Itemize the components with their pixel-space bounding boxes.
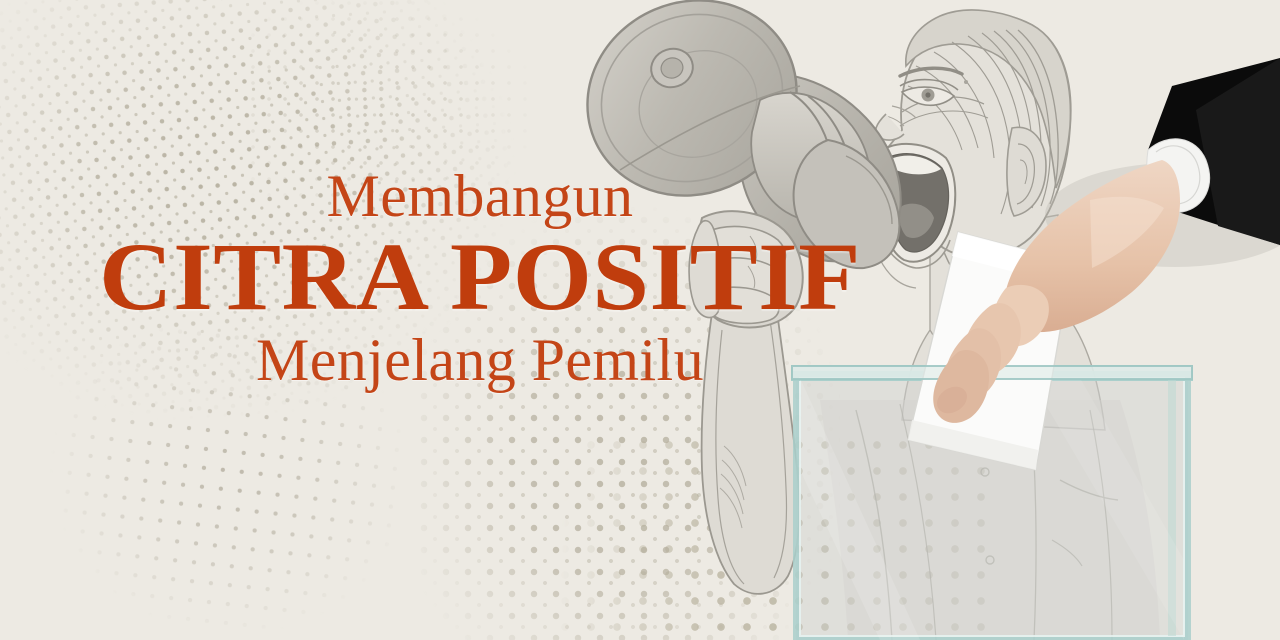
headline-line-2: CITRA POSITIF xyxy=(0,228,989,326)
headline-block: Membangun CITRA POSITIF Menjelang Pemilu xyxy=(0,166,960,390)
poster-banner: Membangun CITRA POSITIF Menjelang Pemilu xyxy=(0,0,1280,640)
headline-line-1: Membangun xyxy=(0,166,960,226)
headline-line-3: Menjelang Pemilu xyxy=(0,330,960,390)
